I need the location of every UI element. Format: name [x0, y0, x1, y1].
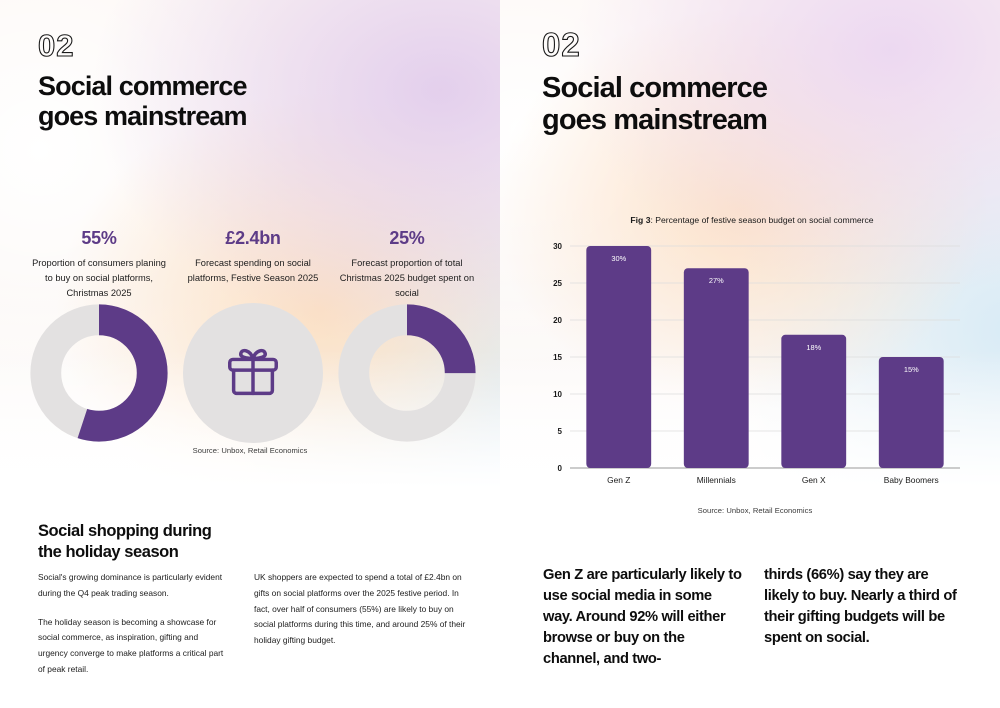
svg-text:15: 15 [553, 353, 562, 362]
lead-text-block: Gen Z are particularly likely to use soc… [543, 565, 963, 669]
body-paragraph: Social's growing dominance is particular… [38, 570, 228, 602]
svg-text:27%: 27% [709, 276, 724, 285]
svg-text:0: 0 [558, 464, 563, 473]
donut-cell [330, 303, 484, 443]
stat-item: £2.4bn Forecast spending on social platf… [176, 228, 330, 301]
chart-y-axis-labels: 051015202530 [553, 242, 562, 473]
stat-description: Proportion of consumers planing to buy o… [28, 256, 170, 301]
body-paragraph: UK shoppers are expected to spend a tota… [254, 570, 466, 649]
lead-column-left: Gen Z are particularly likely to use soc… [543, 565, 742, 669]
left-page: 02 Social commerce goes mainstream 55% P… [0, 0, 500, 708]
stat-description: Forecast spending on social platforms, F… [182, 256, 324, 286]
body-paragraph: The holiday season is becoming a showcas… [38, 615, 228, 678]
svg-text:Baby Boomers: Baby Boomers [884, 475, 939, 485]
svg-text:25: 25 [553, 279, 562, 288]
right-page: 02 Social commerce goes mainstream Fig 3… [500, 0, 1000, 708]
stat-value: £2.4bn [182, 228, 324, 249]
magazine-spread: 02 Social commerce goes mainstream 55% P… [0, 0, 1000, 708]
section-number: 02 [542, 28, 767, 61]
svg-text:Millennials: Millennials [697, 475, 736, 485]
donut-chart-25-percent [337, 303, 477, 443]
chart-x-axis-labels: Gen ZMillennialsGen XBaby Boomers [607, 475, 939, 485]
svg-text:20: 20 [553, 316, 562, 325]
lead-column-right: thirds (66%) say they are likely to buy.… [764, 565, 963, 669]
bar-chart: 051015202530 30%27%18%15% Gen ZMillennia… [536, 240, 966, 498]
svg-text:15%: 15% [904, 365, 919, 374]
gift-icon [222, 342, 284, 404]
body-column-left: Social's growing dominance is particular… [38, 570, 228, 678]
section-number: 02 [38, 30, 247, 61]
gift-icon-circle [183, 303, 323, 443]
body-heading: Social shopping during the holiday seaso… [38, 521, 211, 563]
page-title: Social commerce goes mainstream [38, 71, 247, 131]
svg-text:Gen X: Gen X [802, 475, 826, 485]
left-page-header: 02 Social commerce goes mainstream [38, 30, 247, 131]
stat-description: Forecast proportion of total Christmas 2… [336, 256, 478, 301]
figure-title-text: : Percentage of festive season budget on… [650, 215, 873, 225]
body-column-right: UK shoppers are expected to spend a tota… [254, 570, 466, 649]
svg-text:5: 5 [558, 427, 563, 436]
stat-item: 25% Forecast proportion of total Christm… [330, 228, 484, 301]
source-note: Source: Unbox, Retail Economics [0, 446, 500, 455]
donut-chart-55-percent [29, 303, 169, 443]
figure-label: Fig 3 [630, 215, 650, 225]
stat-value: 25% [336, 228, 478, 249]
donut-row [22, 303, 484, 443]
donut-cell [22, 303, 176, 443]
svg-text:30: 30 [553, 242, 562, 251]
svg-text:10: 10 [553, 390, 562, 399]
lead-paragraph: thirds (66%) say they are likely to buy.… [764, 565, 963, 649]
stat-item: 55% Proportion of consumers planing to b… [22, 228, 176, 301]
figure-title: Fig 3: Percentage of festive season budg… [542, 215, 962, 225]
gift-cell [176, 303, 330, 443]
right-page-header: 02 Social commerce goes mainstream [542, 28, 767, 137]
lead-paragraph: Gen Z are particularly likely to use soc… [543, 565, 742, 669]
page-title: Social commerce goes mainstream [542, 72, 767, 137]
svg-text:18%: 18% [806, 343, 821, 352]
svg-text:30%: 30% [611, 254, 626, 263]
source-note: Source: Unbox, Retail Economics [540, 506, 970, 515]
stat-row: 55% Proportion of consumers planing to b… [22, 228, 484, 301]
svg-text:Gen Z: Gen Z [607, 475, 630, 485]
stat-value: 55% [28, 228, 170, 249]
